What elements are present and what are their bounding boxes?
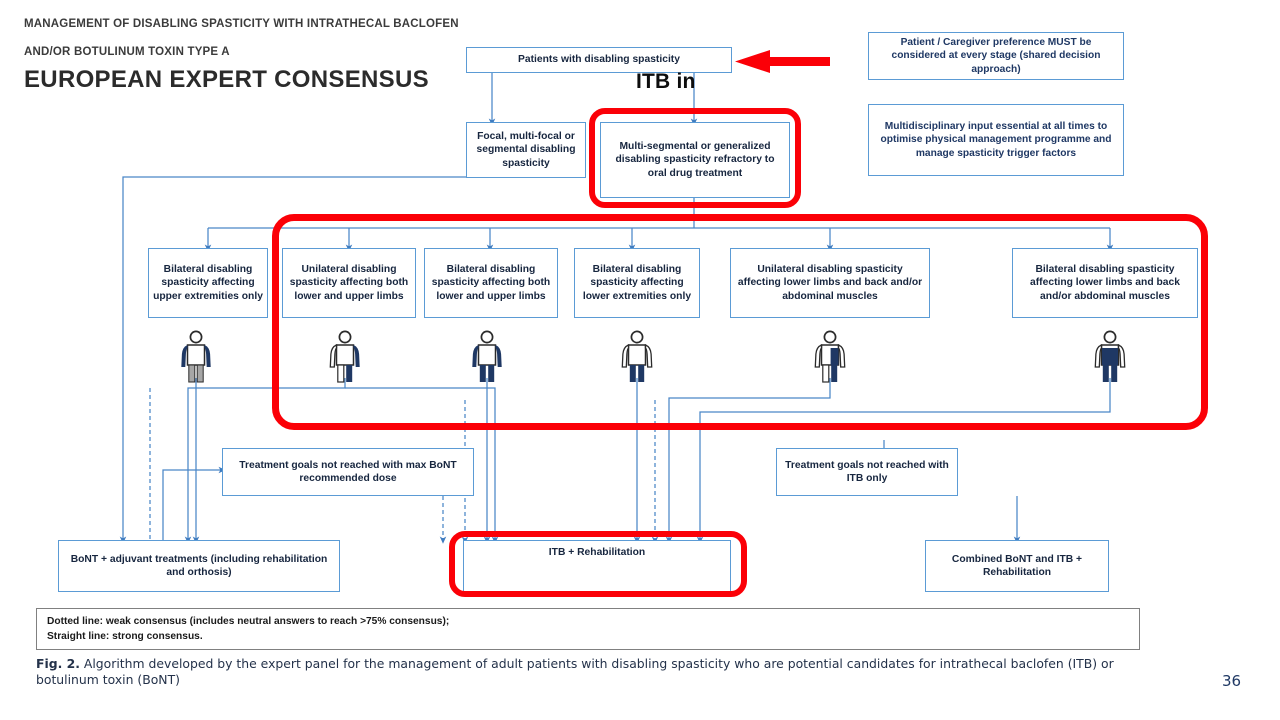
red-arrow-pointing-left [0,0,1280,720]
slide-canvas: MANAGEMENT OF DISABLING SPASTICITY WITH … [0,0,1280,720]
annotation-itb-in: ITB in [636,70,696,94]
